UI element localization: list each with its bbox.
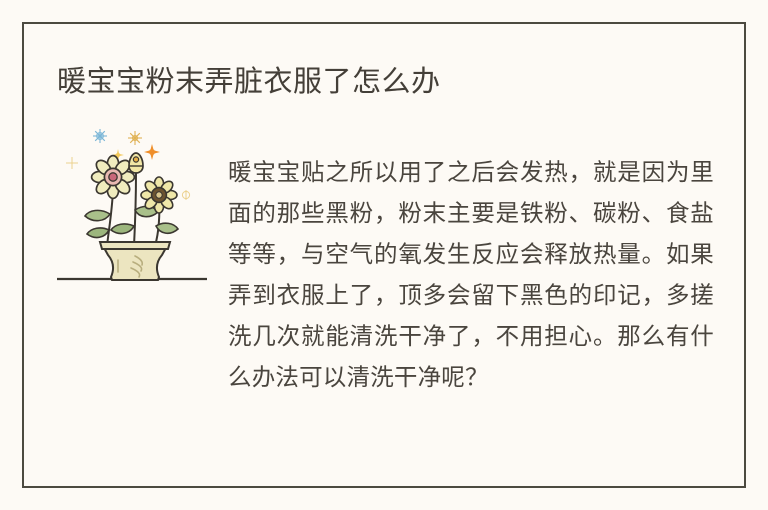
flower-left (92, 156, 135, 199)
article-page: 暖宝宝粉末弄脏衣服了怎么办 (0, 0, 768, 510)
leaf-middle-left (111, 224, 134, 234)
page-title: 暖宝宝粉末弄脏衣服了怎么办 (57, 62, 441, 102)
sparkle-pale-left-icon (66, 157, 78, 169)
sparkle-pale-right-icon (182, 190, 189, 200)
flower-right-core (156, 192, 162, 198)
flower-bud-middle (129, 153, 143, 173)
flower-left-core (109, 173, 117, 181)
vase (100, 242, 170, 280)
plant-group (85, 153, 178, 246)
flower-vase-illustration (55, 122, 215, 297)
article-body: 暖宝宝贴之所以用了之后会发热，就是因为里面的那些黑粉，粉末主要是铁粉、碳粉、食盐… (228, 152, 714, 398)
leaf-right (156, 223, 178, 233)
leaf-left-upper (85, 210, 110, 220)
vase-rim (100, 242, 170, 249)
sparkle-blue-icon (93, 129, 107, 143)
flower-vase-svg (55, 122, 215, 297)
flower-right (141, 177, 177, 213)
sparkle-gold-icon (128, 131, 142, 145)
leaf-left-lower (87, 228, 109, 238)
sparkle-orange-icon (144, 144, 160, 160)
